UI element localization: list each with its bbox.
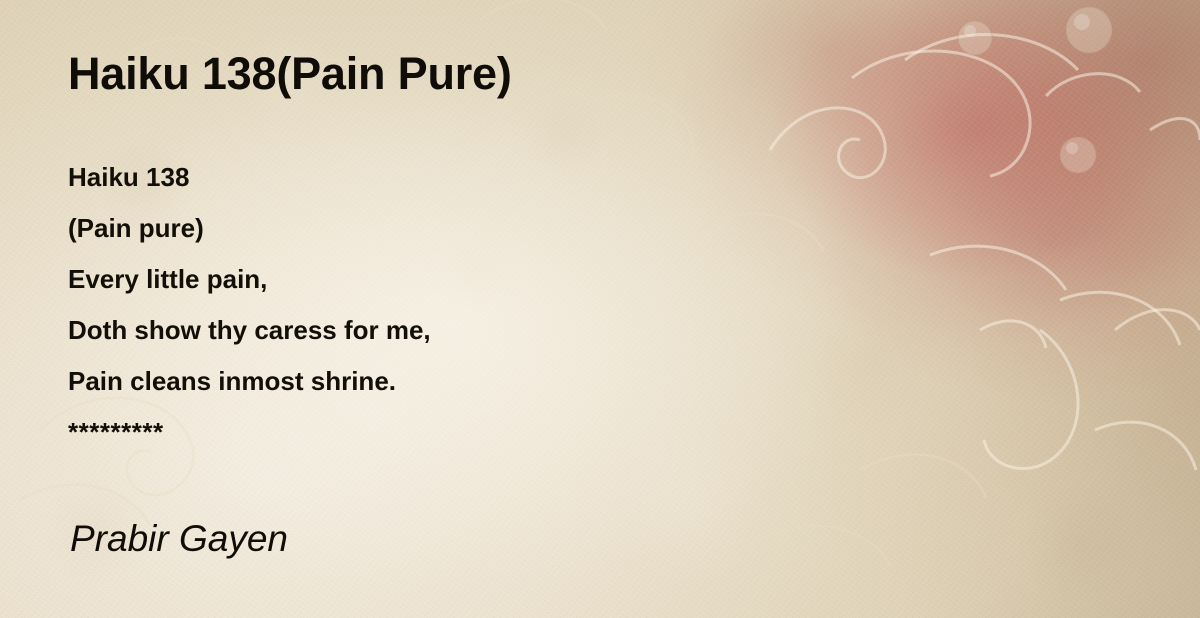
poem-line: Every little pain, — [68, 254, 768, 305]
author-name: Prabir Gayen — [70, 518, 288, 560]
poem-content: Haiku 138(Pain Pure) Haiku 138 (Pain pur… — [0, 0, 1200, 618]
poem-line: (Pain pure) — [68, 203, 768, 254]
poem-line-separator: ********* — [68, 407, 768, 458]
poem-line: Pain cleans inmost shrine. — [68, 356, 768, 407]
poem-line: Haiku 138 — [68, 152, 768, 203]
poem-line: Doth show thy caress for me, — [68, 305, 768, 356]
poem-card: Haiku 138(Pain Pure) Haiku 138 (Pain pur… — [0, 0, 1200, 618]
poem-body: Haiku 138 (Pain pure) Every little pain,… — [68, 152, 768, 458]
page-title: Haiku 138(Pain Pure) — [68, 48, 512, 100]
